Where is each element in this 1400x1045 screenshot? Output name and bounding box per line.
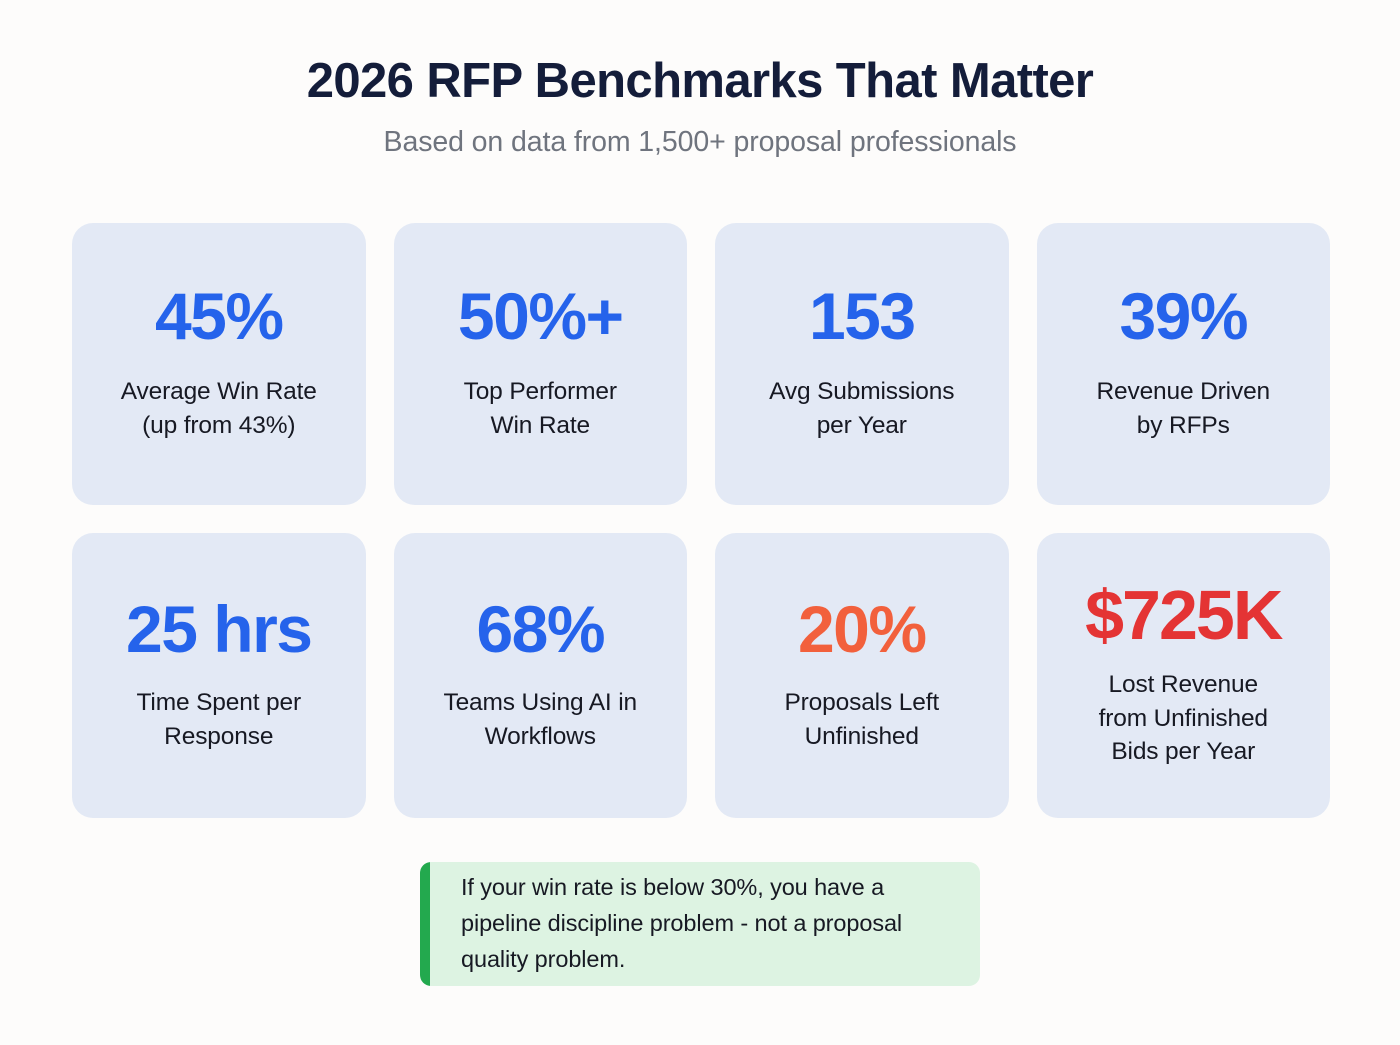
stat-card: 50%+ Top Performer Win Rate [394,223,688,505]
stat-label: Avg Submissions per Year [769,375,954,443]
stat-value: 50%+ [458,283,623,349]
stat-value: $725K [1085,580,1281,650]
stat-label: Average Win Rate (up from 43%) [121,375,317,443]
stat-value: 45% [155,283,283,349]
stat-label: Proposals Left Unfinished [784,686,939,754]
stat-value: 20% [798,596,926,662]
infographic-page: 2026 RFP Benchmarks That Matter Based on… [0,0,1400,1045]
stat-label: Lost Revenue from Unfinished Bids per Ye… [1099,668,1268,769]
page-subtitle: Based on data from 1,500+ proposal profe… [0,125,1400,159]
stat-card: 45% Average Win Rate (up from 43%) [72,223,366,505]
callout-text: If your win rate is below 30%, you have … [461,870,902,977]
insight-callout: If your win rate is below 30%, you have … [420,862,980,986]
stat-label: Teams Using AI in Workflows [443,686,637,754]
stat-card-grid: 45% Average Win Rate (up from 43%) 50%+ … [72,223,1330,818]
callout-accent-bar [420,862,430,986]
stat-card: $725K Lost Revenue from Unfinished Bids … [1037,533,1331,818]
stat-value: 25 hrs [126,596,311,662]
stat-card: 153 Avg Submissions per Year [715,223,1009,505]
header: 2026 RFP Benchmarks That Matter Based on… [0,54,1400,159]
page-title: 2026 RFP Benchmarks That Matter [0,54,1400,109]
stat-card: 20% Proposals Left Unfinished [715,533,1009,818]
callout-body: If your win rate is below 30%, you have … [430,862,980,986]
stat-label: Time Spent per Response [137,686,301,754]
stat-card: 68% Teams Using AI in Workflows [394,533,688,818]
stat-label: Revenue Driven by RFPs [1096,375,1270,443]
stat-value: 153 [809,283,915,349]
stat-value: 39% [1119,283,1247,349]
stat-value: 68% [476,596,604,662]
stat-label: Top Performer Win Rate [464,375,617,443]
stat-card: 39% Revenue Driven by RFPs [1037,223,1331,505]
stat-card: 25 hrs Time Spent per Response [72,533,366,818]
